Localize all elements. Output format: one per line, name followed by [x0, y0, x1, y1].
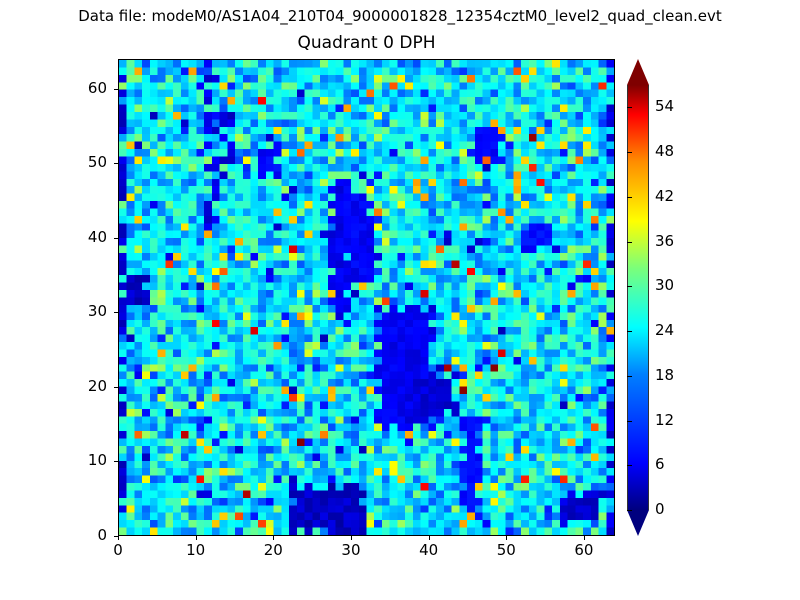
x-tick-label: 10 [166, 542, 226, 559]
colorbar-tick-label: 42 [655, 188, 674, 205]
colorbar-tick-label: 12 [655, 412, 674, 429]
y-tick-label: 0 [59, 527, 107, 544]
colorbar-over-arrow [627, 59, 649, 85]
x-tick-mark [118, 536, 119, 540]
colorbar-tick-label: 0 [655, 501, 665, 518]
x-tick-mark [429, 536, 430, 540]
colorbar-under-arrow [627, 510, 649, 536]
y-tick-label: 50 [59, 154, 107, 171]
y-tick-label: 60 [59, 80, 107, 97]
colorbar-tick-mark [627, 465, 632, 466]
x-tick-mark [273, 536, 274, 540]
colorbar-tick-mark [627, 331, 632, 332]
y-tick-label: 30 [59, 303, 107, 320]
y-tick-mark [114, 536, 118, 537]
y-tick-mark [114, 312, 118, 313]
x-tick-label: 0 [88, 542, 148, 559]
colorbar-gradient [627, 85, 649, 510]
colorbar-tick-label: 30 [655, 277, 674, 294]
colorbar-tick-mark [627, 286, 632, 287]
y-tick-label: 40 [59, 229, 107, 246]
x-tick-label: 30 [321, 542, 381, 559]
y-tick-label: 10 [59, 452, 107, 469]
heatmap-image[interactable] [119, 60, 614, 535]
x-tick-mark [351, 536, 352, 540]
colorbar-tick-mark [627, 376, 632, 377]
colorbar-tick-label: 36 [655, 233, 674, 250]
x-tick-mark [196, 536, 197, 540]
colorbar-tick-mark [627, 510, 632, 511]
colorbar-tick-mark [627, 421, 632, 422]
x-tick-label: 20 [243, 542, 303, 559]
data-file-suptitle: Data file: modeM0/AS1A04_210T04_90000018… [0, 6, 800, 26]
x-tick-label: 50 [476, 542, 536, 559]
colorbar-tick-label: 18 [655, 367, 674, 384]
x-tick-mark [506, 536, 507, 540]
y-tick-mark [114, 238, 118, 239]
matplotlib-figure: Data file: modeM0/AS1A04_210T04_90000018… [0, 0, 800, 600]
x-tick-mark [584, 536, 585, 540]
y-tick-mark [114, 163, 118, 164]
colorbar-tick-label: 48 [655, 143, 674, 160]
colorbar-tick-label: 24 [655, 322, 674, 339]
colorbar-tick-mark [627, 197, 632, 198]
colorbar-tick-label: 54 [655, 98, 674, 115]
heatmap-axes[interactable] [118, 59, 615, 536]
x-tick-label: 40 [399, 542, 459, 559]
colorbar-tick-mark [627, 152, 632, 153]
colorbar-tick-label: 6 [655, 456, 665, 473]
y-tick-label: 20 [59, 378, 107, 395]
y-tick-mark [114, 461, 118, 462]
colorbar-tick-mark [627, 242, 632, 243]
x-tick-label: 60 [554, 542, 614, 559]
plot-title: Quadrant 0 DPH [118, 32, 615, 54]
y-tick-mark [114, 89, 118, 90]
colorbar-tick-mark [627, 107, 632, 108]
y-tick-mark [114, 387, 118, 388]
